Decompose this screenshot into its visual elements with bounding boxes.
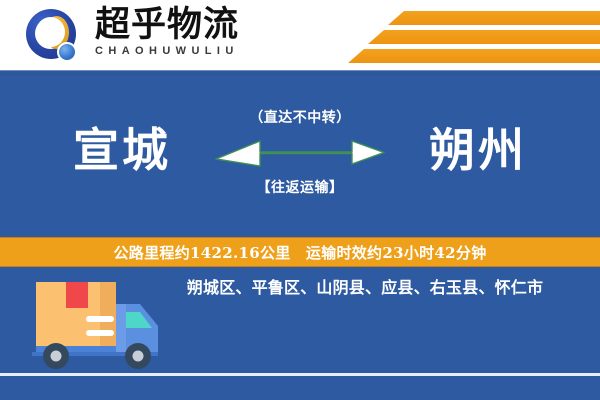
delivery-truck-icon — [22, 268, 182, 376]
coverage-areas-text: 朔城区、平鲁区、山阴县、应县、右玉县、怀仁市 — [150, 277, 580, 299]
stripe-2 — [368, 30, 600, 44]
distance-duration-text: 公路里程约1422.16公里 运输时效约23小时42分钟 — [114, 242, 487, 263]
destination-city: 朔州 — [378, 122, 578, 178]
logistics-route-banner: 超乎物流 CHAOHUWULIU 宣城 （直达不中转） — [0, 0, 600, 400]
stripe-3 — [348, 49, 600, 63]
banner-header: 超乎物流 CHAOHUWULIU — [0, 0, 600, 70]
origin-city: 宣城 — [22, 122, 222, 178]
brand-name-cn: 超乎物流 — [95, 6, 275, 44]
header-body-divider — [0, 70, 600, 76]
route-row: 宣城 （直达不中转） 【往返运输】 朔州 — [0, 108, 600, 218]
round-trip-label: 【往返运输】 — [212, 178, 388, 198]
logo-accent-dot-icon — [57, 42, 77, 62]
stripe-1 — [388, 11, 600, 25]
distance-duration-bar: 公路里程约1422.16公里 运输时效约23小时42分钟 — [0, 237, 600, 267]
brand-wordmark: 超乎物流 CHAOHUWULIU — [95, 6, 275, 57]
route-middle: （直达不中转） 【往返运输】 — [212, 108, 388, 218]
banner-body: 宣城 （直达不中转） 【往返运输】 朔州 公路里程约1422.16公里 运输时效… — [0, 70, 600, 400]
direct-service-label: （直达不中转） — [212, 108, 388, 128]
header-stripes-icon — [325, 8, 600, 64]
brand-name-en: CHAOHUWULIU — [95, 45, 275, 57]
logo-crescent-cut — [36, 17, 65, 47]
double-headed-arrow-icon — [212, 135, 388, 175]
brand-logo-icon — [26, 9, 82, 65]
